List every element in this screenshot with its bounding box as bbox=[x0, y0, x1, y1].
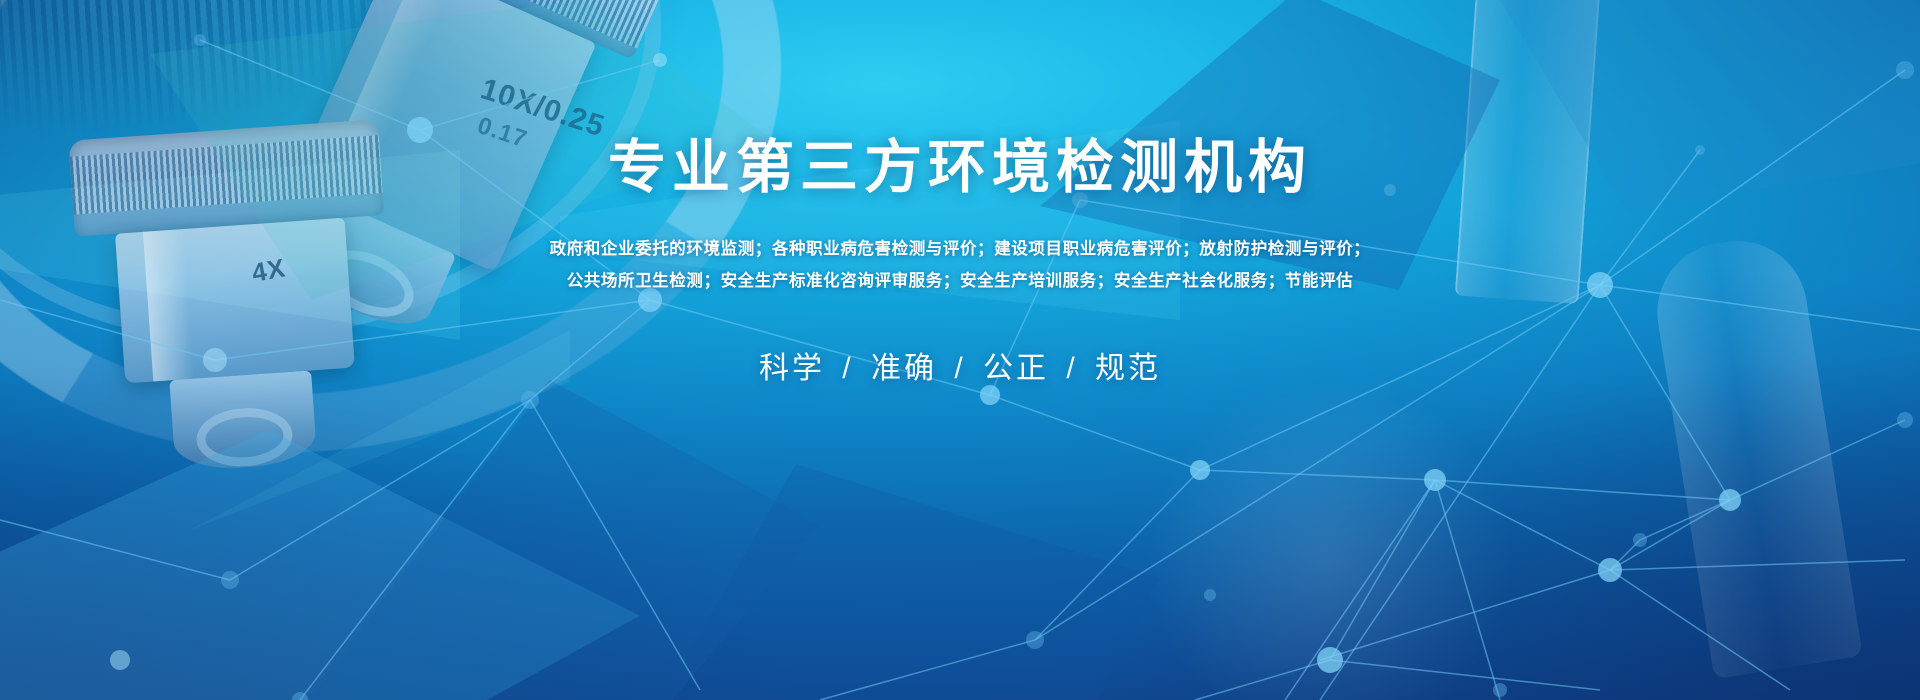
slogan-separator-3: / bbox=[1060, 352, 1083, 385]
banner-slogan: 科学 / 准确 / 公正 / 规范 bbox=[759, 343, 1161, 387]
subtitle-line-1: 政府和企业委托的环境监测；各种职业病危害检测与评价；建设项目职业病危害评价；放射… bbox=[550, 233, 1371, 265]
slogan-separator-2: / bbox=[948, 352, 971, 385]
slogan-item-3: 公正 bbox=[983, 352, 1049, 385]
slogan-item-2: 准确 bbox=[871, 352, 937, 385]
subtitle-line-2: 公共场所卫生检测；安全生产标准化咨询评审服务；安全生产培训服务；安全生产社会化服… bbox=[550, 265, 1371, 297]
slogan-separator-1: / bbox=[836, 352, 859, 385]
banner-subtitle: 政府和企业委托的环境监测；各种职业病危害检测与评价；建设项目职业病危害评价；放射… bbox=[550, 233, 1371, 297]
slogan-item-4: 规范 bbox=[1095, 352, 1161, 385]
slogan-item-1: 科学 bbox=[759, 352, 825, 385]
hero-banner: 10X/0.25 0.17 4X bbox=[0, 0, 1920, 700]
page-title: 专业第三方环境检测机构 bbox=[608, 139, 1312, 197]
banner-content: 专业第三方环境检测机构 政府和企业委托的环境监测；各种职业病危害检测与评价；建设… bbox=[0, 0, 1920, 700]
